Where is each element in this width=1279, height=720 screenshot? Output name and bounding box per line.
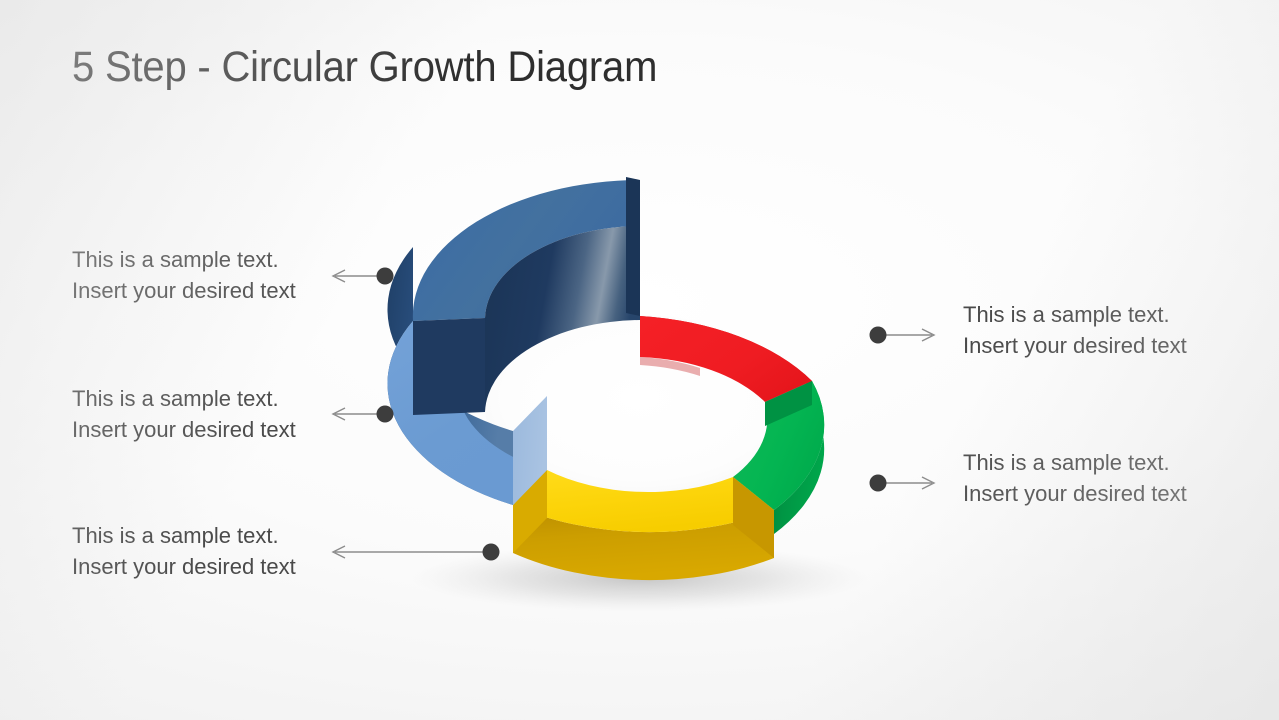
connector-left-middle[interactable] (333, 406, 394, 423)
callout-left-middle-label: This is a sample text. Insert your desir… (72, 384, 296, 445)
callout-right-top-line1: This is a sample text. (963, 300, 1187, 331)
callout-right-bottom-line1: This is a sample text. (963, 448, 1187, 479)
slide-canvas: 5 Step - Circular Growth Diagram (0, 0, 1279, 720)
connector-right-bottom[interactable] (870, 475, 935, 492)
callout-left-top-line1: This is a sample text. (72, 245, 296, 276)
callout-left-top-line2: Insert your desired text (72, 276, 296, 307)
callout-left-bottom-line1: This is a sample text. (72, 521, 296, 552)
callout-right-top-label: This is a sample text. Insert your desir… (963, 300, 1187, 361)
connector-left-top[interactable] (333, 268, 394, 285)
callout-left-middle-line2: Insert your desired text (72, 415, 296, 446)
callout-right-bottom-line2: Insert your desired text (963, 479, 1187, 510)
callout-left-bottom-label: This is a sample text. Insert your desir… (72, 521, 296, 582)
callout-left-bottom-line2: Insert your desired text (72, 552, 296, 583)
callout-right-bottom-label: This is a sample text. Insert your desir… (963, 448, 1187, 509)
callout-right-top-line2: Insert your desired text (963, 331, 1187, 362)
connector-right-top[interactable] (870, 327, 935, 344)
callout-left-top-label: This is a sample text. Insert your desir… (72, 245, 296, 306)
callout-left-middle-line1: This is a sample text. (72, 384, 296, 415)
